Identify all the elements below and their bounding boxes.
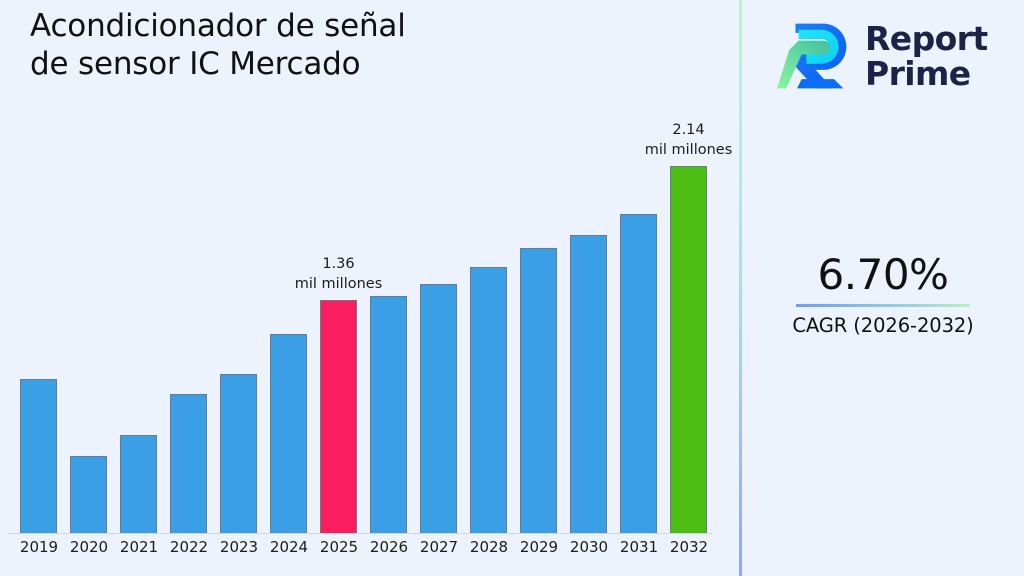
x-tick-2031: 2031 xyxy=(614,538,664,556)
bar-rect-2019 xyxy=(20,379,57,533)
report-slide: Acondicionador de señal de sensor IC Mer… xyxy=(0,0,1024,576)
bar-rect-2023 xyxy=(220,374,257,533)
bar-value-label-2032: 2.14mil millones xyxy=(645,121,733,160)
bar-rect-2024 xyxy=(270,334,307,533)
bar-value-number-2032: 2.14 xyxy=(645,121,733,140)
x-tick-2023: 2023 xyxy=(214,538,264,556)
x-axis-line xyxy=(8,533,713,534)
cagr-divider-rule xyxy=(796,304,970,307)
x-tick-2020: 2020 xyxy=(64,538,114,556)
report-prime-logo-icon xyxy=(775,19,853,93)
bar-rect-2032 xyxy=(670,166,707,533)
bar-2029 xyxy=(520,130,557,533)
x-tick-2019: 2019 xyxy=(14,538,64,556)
cagr-caption: CAGR (2026-2032) xyxy=(742,314,1024,337)
chart-panel: Acondicionador de señal de sensor IC Mer… xyxy=(0,0,740,576)
x-axis-tick-labels: 2019202020212022202320242025202620272028… xyxy=(20,538,720,572)
bar-rect-2028 xyxy=(470,267,507,533)
bar-rect-2030 xyxy=(570,235,607,533)
bar-2025: 1.36mil millones xyxy=(320,130,357,533)
page-title: Acondicionador de señal de sensor IC Mer… xyxy=(30,8,450,84)
bar-chart: 1.36mil millones2.14mil millones 2019202… xyxy=(0,130,740,576)
bar-rect-2020 xyxy=(70,456,107,533)
bar-2030 xyxy=(570,130,607,533)
bar-2021 xyxy=(120,130,157,533)
bar-2024 xyxy=(270,130,307,533)
bar-rect-2025 xyxy=(320,300,357,533)
brand-logo: Report Prime xyxy=(775,12,1015,100)
bar-rect-2021 xyxy=(120,435,157,533)
bar-value-unit-2032: mil millones xyxy=(645,141,733,160)
bar-2031 xyxy=(620,130,657,533)
bar-rect-2031 xyxy=(620,214,657,533)
x-tick-2022: 2022 xyxy=(164,538,214,556)
x-tick-2021: 2021 xyxy=(114,538,164,556)
bar-rect-2027 xyxy=(420,284,457,533)
bar-2020 xyxy=(70,130,107,533)
x-tick-2029: 2029 xyxy=(514,538,564,556)
bar-2022 xyxy=(170,130,207,533)
plot-area: 1.36mil millones2.14mil millones xyxy=(20,130,720,533)
bar-2028 xyxy=(470,130,507,533)
cagr-value: 6.70% xyxy=(742,252,1024,298)
bar-2026 xyxy=(370,130,407,533)
bar-rect-2026 xyxy=(370,296,407,533)
brand-name: Report Prime xyxy=(865,21,988,92)
bar-2027 xyxy=(420,130,457,533)
bar-2019 xyxy=(20,130,57,533)
x-tick-2028: 2028 xyxy=(464,538,514,556)
x-tick-2024: 2024 xyxy=(264,538,314,556)
bar-2023 xyxy=(220,130,257,533)
x-tick-2025: 2025 xyxy=(314,538,364,556)
bar-rect-2029 xyxy=(520,248,557,533)
bar-2032: 2.14mil millones xyxy=(670,130,707,533)
summary-panel: Report Prime 6.70% CAGR (2026-2032) xyxy=(742,0,1024,576)
x-tick-2030: 2030 xyxy=(564,538,614,556)
x-tick-2026: 2026 xyxy=(364,538,414,556)
cagr-block: 6.70% CAGR (2026-2032) xyxy=(742,252,1024,337)
x-tick-2027: 2027 xyxy=(414,538,464,556)
bar-rect-2022 xyxy=(170,394,207,533)
x-tick-2032: 2032 xyxy=(664,538,714,556)
